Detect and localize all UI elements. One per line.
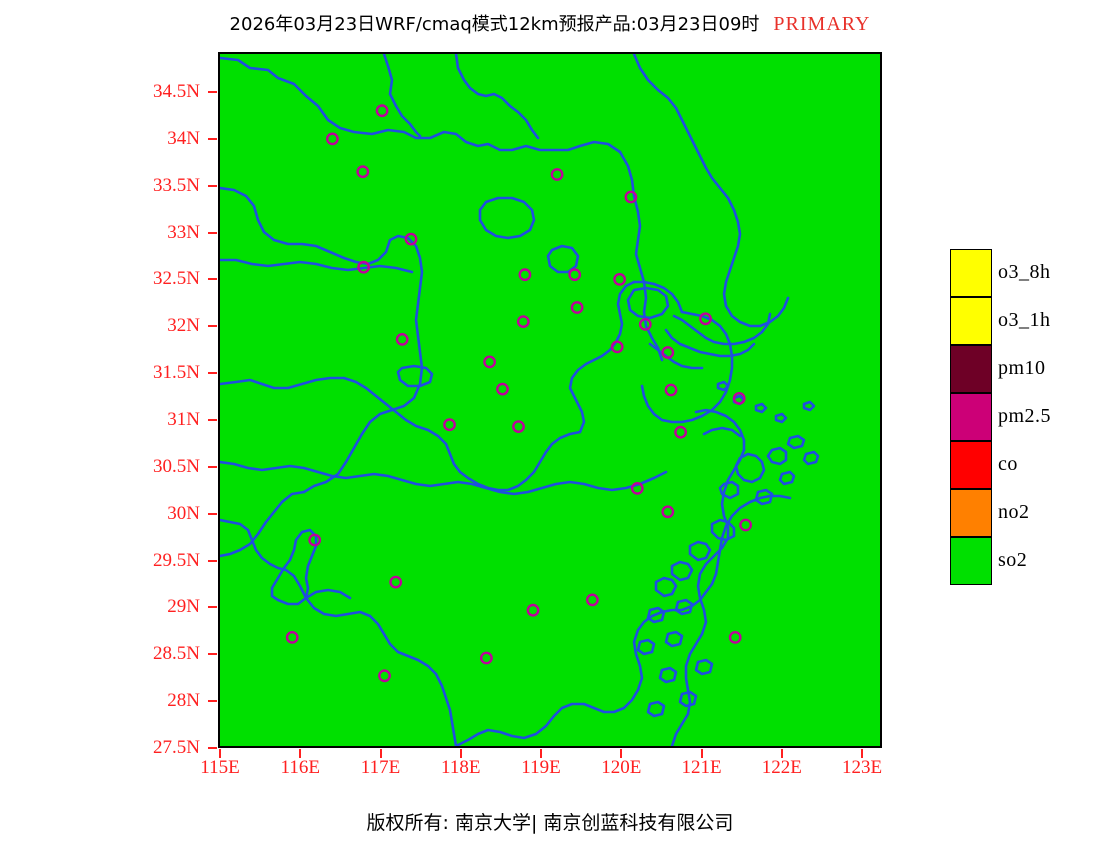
legend-item-label: pm2.5	[998, 405, 1051, 428]
legend-color-swatch	[950, 489, 992, 537]
pollutant-legend[interactable]: o3_8ho3_1hpm10pm2.5cono2so2	[950, 249, 992, 585]
y-axis-tick-mark	[208, 278, 217, 280]
y-axis-tick-mark	[208, 419, 217, 421]
copyright-footer: 版权所有: 南京大学| 南京创蓝科技有限公司	[0, 808, 1100, 835]
y-axis-tick-mark	[208, 747, 217, 749]
station-marker[interactable]	[481, 653, 491, 663]
station-marker[interactable]	[377, 106, 387, 116]
x-axis-tick-mark	[781, 749, 783, 758]
x-axis-tick-label: 123E	[822, 758, 902, 777]
legend-item-pm2-5[interactable]: pm2.5	[950, 393, 992, 441]
y-axis-tick-label: 31.5N	[60, 363, 200, 382]
station-marker[interactable]	[614, 274, 624, 284]
y-axis-tick-label: 29.5N	[60, 551, 200, 570]
y-axis-tick-label: 32N	[60, 316, 200, 335]
legend-item-label: no2	[998, 501, 1030, 524]
station-marker[interactable]	[666, 385, 676, 395]
station-marker[interactable]	[513, 421, 523, 431]
station-marker[interactable]	[587, 595, 597, 605]
y-axis-tick-label: 33N	[60, 223, 200, 242]
y-axis-tick-label: 30N	[60, 504, 200, 523]
y-axis-tick-label: 34.5N	[60, 82, 200, 101]
x-axis-tick-label: 119E	[501, 758, 581, 777]
x-axis-tick-label: 117E	[341, 758, 421, 777]
chart-title-badge: PRIMARY	[773, 13, 870, 35]
chart-title: 2026年03月23日WRF/cmaq模式12km预报产品:03月23日09时P…	[0, 10, 1100, 36]
x-axis-tick-mark	[861, 749, 863, 758]
station-marker[interactable]	[570, 270, 580, 280]
legend-color-swatch	[950, 249, 992, 297]
legend-item-label: so2	[998, 549, 1027, 572]
station-marker[interactable]	[358, 167, 368, 177]
y-axis-tick-label: 29N	[60, 597, 200, 616]
legend-item-label: co	[998, 453, 1018, 476]
station-marker[interactable]	[391, 577, 401, 587]
station-marker[interactable]	[327, 134, 337, 144]
station-marker[interactable]	[379, 671, 389, 681]
x-axis-tick-mark	[219, 749, 221, 758]
legend-item-o3-8h[interactable]: o3_8h	[950, 249, 992, 297]
y-axis-tick-mark	[208, 513, 217, 515]
legend-item-o3-1h[interactable]: o3_1h	[950, 297, 992, 345]
x-axis-tick-label: 118E	[421, 758, 501, 777]
x-axis-tick-mark	[620, 749, 622, 758]
legend-color-swatch	[950, 537, 992, 585]
x-axis-tick-label: 116E	[260, 758, 340, 777]
station-marker[interactable]	[287, 632, 297, 642]
y-axis-tick-label: 30.5N	[60, 457, 200, 476]
legend-item-label: o3_1h	[998, 309, 1051, 332]
y-axis-tick-label: 27.5N	[60, 738, 200, 757]
y-axis-tick-mark	[208, 232, 217, 234]
x-axis-tick-mark	[380, 749, 382, 758]
legend-item-co[interactable]: co	[950, 441, 992, 489]
legend-item-so2[interactable]: so2	[950, 537, 992, 585]
x-axis-tick-label: 120E	[581, 758, 661, 777]
x-axis-tick-mark	[460, 749, 462, 758]
legend-item-pm10[interactable]: pm10	[950, 345, 992, 393]
x-axis-tick-mark	[299, 749, 301, 758]
x-axis-tick-label: 121E	[662, 758, 742, 777]
legend-item-label: pm10	[998, 357, 1046, 380]
y-axis-tick-label: 28.5N	[60, 644, 200, 663]
y-axis-tick-mark	[208, 185, 217, 187]
y-axis-tick-mark	[208, 91, 217, 93]
y-axis-tick-label: 34N	[60, 129, 200, 148]
y-axis-tick-label: 28N	[60, 691, 200, 710]
map-vector-layer	[220, 54, 880, 746]
y-axis-tick-label: 31N	[60, 410, 200, 429]
y-axis-tick-mark	[208, 653, 217, 655]
chart-title-text: 2026年03月23日WRF/cmaq模式12km预报产品:03月23日09时	[230, 14, 760, 35]
station-marker[interactable]	[484, 357, 494, 367]
station-marker[interactable]	[528, 605, 538, 615]
legend-color-swatch	[950, 345, 992, 393]
y-axis-tick-label: 32.5N	[60, 269, 200, 288]
station-marker[interactable]	[730, 632, 740, 642]
legend-color-swatch	[950, 297, 992, 345]
x-axis-tick-mark	[701, 749, 703, 758]
x-axis-tick-label: 122E	[742, 758, 822, 777]
y-axis-tick-mark	[208, 466, 217, 468]
y-axis-tick-mark	[208, 325, 217, 327]
station-marker[interactable]	[397, 334, 407, 344]
y-axis-tick-mark	[208, 372, 217, 374]
station-marker[interactable]	[444, 420, 454, 430]
station-marker[interactable]	[663, 507, 673, 517]
station-marker[interactable]	[518, 316, 528, 326]
legend-item-label: o3_8h	[998, 261, 1051, 284]
x-axis-tick-label: 115E	[180, 758, 260, 777]
station-marker[interactable]	[497, 384, 507, 394]
x-axis-tick-mark	[540, 749, 542, 758]
y-axis-tick-mark	[208, 138, 217, 140]
station-marker[interactable]	[520, 270, 530, 280]
legend-color-swatch	[950, 441, 992, 489]
station-marker[interactable]	[740, 520, 750, 530]
map-plot-area[interactable]	[218, 52, 882, 748]
y-axis-tick-mark	[208, 606, 217, 608]
y-axis-tick-label: 33.5N	[60, 176, 200, 195]
y-axis-tick-mark	[208, 700, 217, 702]
legend-item-no2[interactable]: no2	[950, 489, 992, 537]
station-marker[interactable]	[572, 302, 582, 312]
station-marker[interactable]	[675, 427, 685, 437]
legend-color-swatch	[950, 393, 992, 441]
station-marker[interactable]	[552, 169, 562, 179]
y-axis-tick-mark	[208, 560, 217, 562]
